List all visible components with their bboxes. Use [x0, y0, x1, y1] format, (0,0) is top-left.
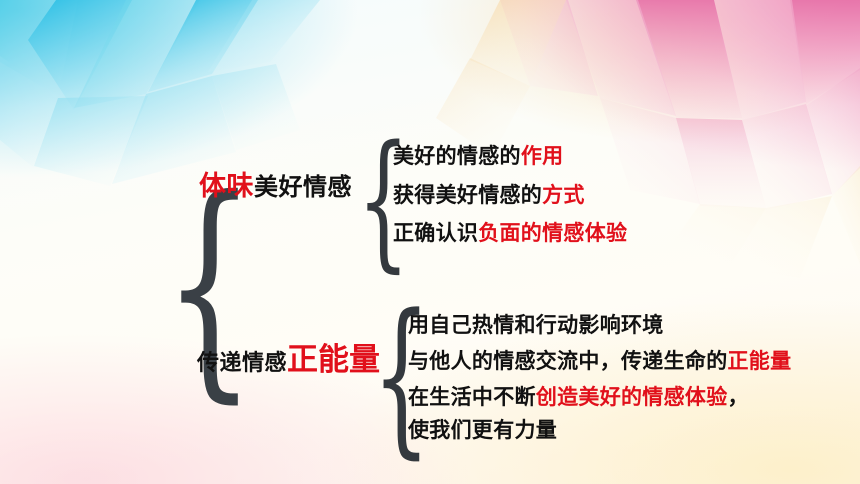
leaf-item-continuation: 使我们更有力量 — [408, 414, 557, 444]
leaf-text-black: 正确认识 — [393, 222, 478, 245]
leaf-text-black: 使我们更有力量 — [408, 419, 557, 442]
leaf-text-red: 创造美好的情感体验 — [536, 386, 728, 409]
leaf-item: 用自己热情和行动影响环境 — [408, 309, 664, 339]
leaf-text-red: 方式 — [542, 184, 585, 207]
leaf-text-black: 与他人的情感交流中，传递生命的 — [408, 350, 728, 373]
branch-a-label-black: 美好情感 — [254, 174, 352, 201]
leaf-item: 美好的情感的作用 — [393, 140, 563, 170]
page-title-line-2: 中成长 — [0, 36, 170, 72]
leaf-text-black-tail: ， — [728, 386, 749, 409]
leaf-item: 获得美好情感的方式 — [393, 179, 585, 209]
branch-b-label-black: 传递情感 — [197, 350, 287, 375]
leaf-item: 在生活中不断创造美好的情感体验， — [408, 381, 749, 411]
branch-a-label-red: 体味 — [199, 171, 254, 201]
page-title: 在品味情感 中成长 — [0, 0, 170, 72]
page-title-line-1: 在品味情感 — [0, 0, 170, 36]
leaf-text-red: 作用 — [521, 145, 564, 168]
leaf-text-red: 负面的情感体验 — [478, 222, 627, 245]
branch-b-label-red: 正能量 — [287, 342, 380, 377]
leaf-item: 正确认识负面的情感体验 — [393, 217, 627, 247]
leaf-text-black: 在生活中不断 — [408, 386, 536, 409]
branch-b-label: 传递情感正能量 — [197, 334, 380, 379]
leaf-text-black: 用自己热情和行动影响环境 — [408, 314, 664, 337]
leaf-item: 与他人的情感交流中，传递生命的正能量 — [408, 345, 791, 375]
slide-canvas: 在品味情感 中成长 { 体味美好情感 { 美好的情感的作用 获得美好情感的方式 … — [0, 0, 860, 484]
leaf-text-black: 美好的情感的 — [393, 145, 521, 168]
branch-a-label: 体味美好情感 — [199, 164, 352, 203]
leaf-text-red: 正能量 — [728, 350, 792, 373]
leaf-text-black: 获得美好情感的 — [393, 184, 542, 207]
